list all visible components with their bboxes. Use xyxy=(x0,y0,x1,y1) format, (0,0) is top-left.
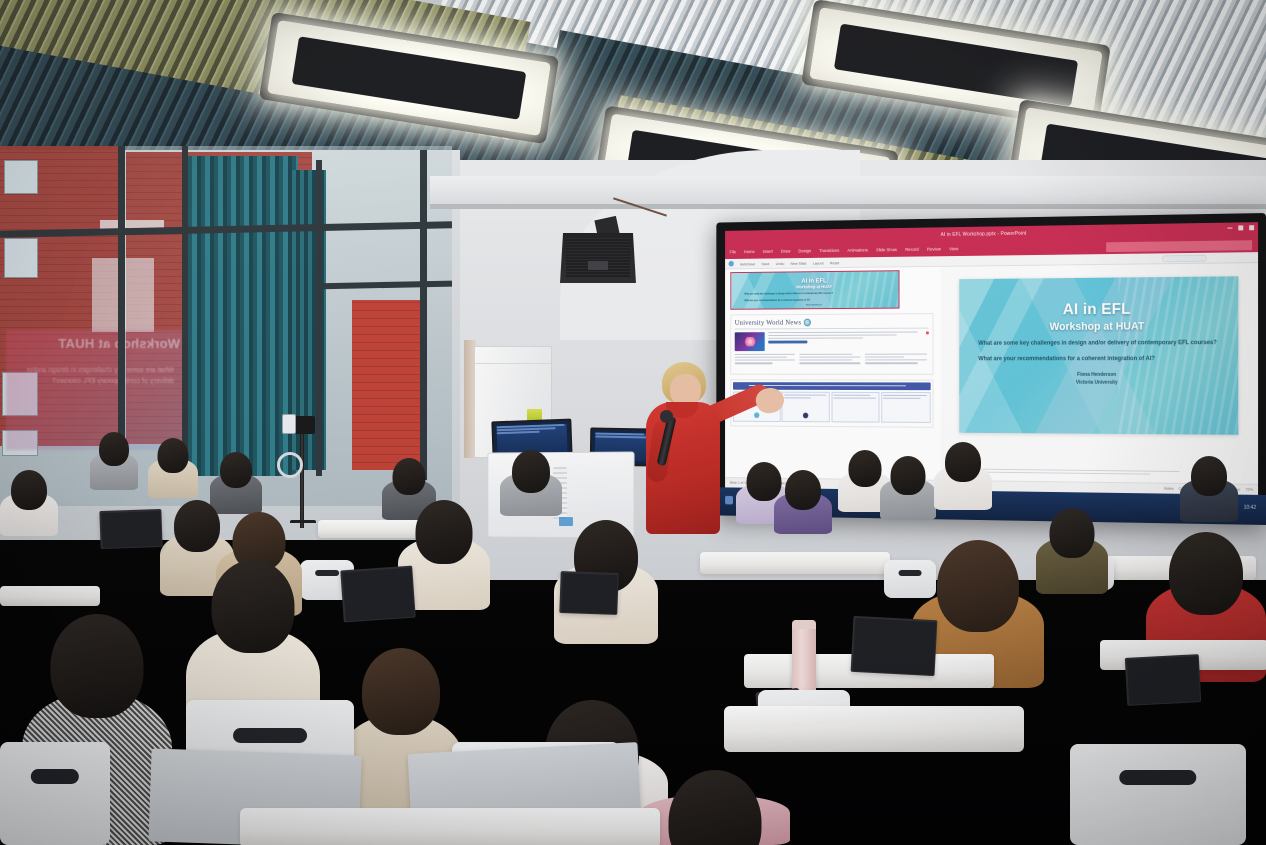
thermos-flask xyxy=(792,620,816,694)
window-controls[interactable] xyxy=(1227,225,1254,230)
cmd-layout[interactable]: Layout xyxy=(813,260,824,265)
divider xyxy=(735,328,929,329)
audience-member xyxy=(640,770,790,845)
classroom-chair xyxy=(1070,744,1246,845)
exterior-brick-building xyxy=(352,300,424,470)
audience-member xyxy=(934,442,992,510)
active-slide[interactable]: AI in EFL Workshop at HUAT What are some… xyxy=(959,277,1238,436)
autosave-icon[interactable] xyxy=(729,261,734,267)
classroom-scene: Workshop at HUAT What are some key chall… xyxy=(0,0,1266,845)
tab-home[interactable]: Home xyxy=(744,249,755,254)
audience-head xyxy=(212,560,295,653)
window-mullion xyxy=(182,146,188,476)
microphone-head xyxy=(660,410,673,423)
audience-member xyxy=(0,470,58,536)
audience-head xyxy=(174,500,220,552)
tab-slide-show[interactable]: Slide Show xyxy=(876,247,897,252)
laptop[interactable] xyxy=(1125,654,1201,706)
slide-1-question-1: What are some key challenges in design a… xyxy=(744,292,832,296)
audience-member xyxy=(774,470,832,534)
ring-light-icon xyxy=(277,452,303,478)
speaker-grille xyxy=(566,238,630,278)
laptop[interactable] xyxy=(340,566,415,623)
audience-head xyxy=(669,770,762,845)
exterior-window xyxy=(4,160,38,194)
audience-head xyxy=(393,458,426,495)
tab-insert[interactable]: Insert xyxy=(763,249,773,254)
slide-1-subheading: Workshop at HUAT xyxy=(796,284,832,289)
classroom-table xyxy=(724,706,1024,752)
audience-head xyxy=(937,540,1019,632)
globe-icon xyxy=(804,318,811,326)
taskbar-clock: 10:42 xyxy=(1244,505,1256,511)
wall-speaker xyxy=(560,233,636,283)
glass-reflection-body: What are some key challenges in design a… xyxy=(14,366,174,388)
audience-head xyxy=(220,452,252,488)
tab-design[interactable]: Design xyxy=(798,248,811,253)
ribbon-control-pill[interactable] xyxy=(1162,255,1207,262)
speaker-brand-logo xyxy=(588,261,608,270)
cmd-reset[interactable]: Reset xyxy=(830,260,839,265)
classroom-table xyxy=(700,552,890,574)
ceiling-soffit-edge xyxy=(430,204,1266,209)
ceiling-soffit xyxy=(430,176,1266,206)
search-input[interactable] xyxy=(1106,240,1252,252)
slide-thumbnail-1[interactable]: AI in EFL Workshop at HUAT What are some… xyxy=(730,270,899,310)
audience-head xyxy=(945,442,981,482)
audience-head xyxy=(849,450,882,487)
audience-head xyxy=(362,648,440,735)
audience-head xyxy=(1050,508,1095,558)
thermos-cap xyxy=(792,620,816,629)
notes-button[interactable]: Notes xyxy=(1164,487,1174,491)
window-mullion xyxy=(420,150,427,480)
audience-head xyxy=(1169,532,1243,615)
audience-member xyxy=(1180,456,1238,522)
zoom-level: 72% xyxy=(1246,488,1254,492)
audience-head xyxy=(51,614,144,718)
audience-member xyxy=(90,432,138,490)
tab-draw[interactable]: Draw xyxy=(781,249,791,254)
slide-presenter-affiliation: Victoria University xyxy=(1076,379,1118,386)
cmd-undo[interactable]: Undo xyxy=(776,261,784,266)
article-text-lines xyxy=(768,331,922,351)
audience-head xyxy=(99,432,129,466)
slide-2-heading: University World News xyxy=(735,318,802,327)
audience-head xyxy=(891,456,926,495)
minimize-icon[interactable] xyxy=(1227,228,1232,229)
cabinet-seam xyxy=(475,363,551,364)
cmd-new-slide[interactable]: New Slide xyxy=(790,260,806,265)
slide-notes-area[interactable] xyxy=(966,468,1187,477)
close-icon[interactable] xyxy=(1249,225,1254,230)
window-mullion xyxy=(118,146,125,476)
close-icon[interactable] xyxy=(926,331,929,334)
laptop[interactable] xyxy=(99,509,162,549)
tab-review[interactable]: Review xyxy=(927,247,941,252)
cmd-save[interactable]: Save xyxy=(761,261,769,266)
tab-animations[interactable]: Animations xyxy=(847,248,868,253)
audience-member xyxy=(148,438,198,498)
audience-head xyxy=(11,470,47,510)
tab-transitions[interactable]: Transitions xyxy=(819,248,839,253)
classroom-table xyxy=(0,586,100,606)
slide-2-header: University World News xyxy=(735,317,929,327)
laptop[interactable] xyxy=(851,616,938,676)
tab-file[interactable]: File xyxy=(729,250,736,255)
audience-member xyxy=(1036,508,1108,594)
audience-head xyxy=(512,450,550,493)
window-title: AI in EFL Workshop.pptx - PowerPoint xyxy=(941,230,1027,237)
active-slide-visual: AI in EFL Workshop at HUAT What are some… xyxy=(959,277,1238,436)
slide-heading: AI in EFL xyxy=(1063,301,1131,319)
tab-view[interactable]: View xyxy=(949,246,958,251)
tab-record[interactable]: Record xyxy=(905,247,919,252)
audience-member xyxy=(880,456,936,520)
article-row xyxy=(735,331,929,351)
slide-thumbnail-panel[interactable]: AI in EFL Workshop at HUAT What are some… xyxy=(725,267,941,480)
slide-1-presenter: Fiona Henderson xyxy=(806,305,822,307)
audience-member xyxy=(500,450,562,516)
slide-question-1: What are some key challenges in design a… xyxy=(978,339,1217,349)
tripod-smartphone[interactable] xyxy=(282,414,296,434)
audience-head xyxy=(416,500,473,564)
exterior-window xyxy=(4,238,38,278)
classroom-table xyxy=(240,808,660,845)
presenter xyxy=(640,362,746,534)
classroom-chair xyxy=(0,742,110,845)
window-mullion xyxy=(316,160,322,476)
cmd-autosave[interactable]: AutoSave xyxy=(740,261,755,266)
slide-1-visual: AI in EFL Workshop at HUAT What are some… xyxy=(731,271,898,309)
maximize-icon[interactable] xyxy=(1238,225,1243,230)
slide-1-question-2: What are your recommendations for a cohe… xyxy=(744,298,810,302)
slide-question-2: What are your recommendations for a cohe… xyxy=(978,355,1155,364)
slide-subheading: Workshop at HUAT xyxy=(1050,320,1145,332)
audience-head xyxy=(158,438,189,473)
slide-presenter-name: Fiona Henderson xyxy=(1077,372,1116,379)
audience-head xyxy=(1191,456,1227,496)
article-thumbnail-image xyxy=(735,332,765,351)
article-columns xyxy=(735,353,929,365)
slide-thumbnail-2[interactable]: University World News xyxy=(730,313,933,375)
glass-reflection-heading: Workshop at HUAT xyxy=(10,336,180,351)
laptop[interactable] xyxy=(559,571,618,615)
audience-head xyxy=(785,470,821,510)
